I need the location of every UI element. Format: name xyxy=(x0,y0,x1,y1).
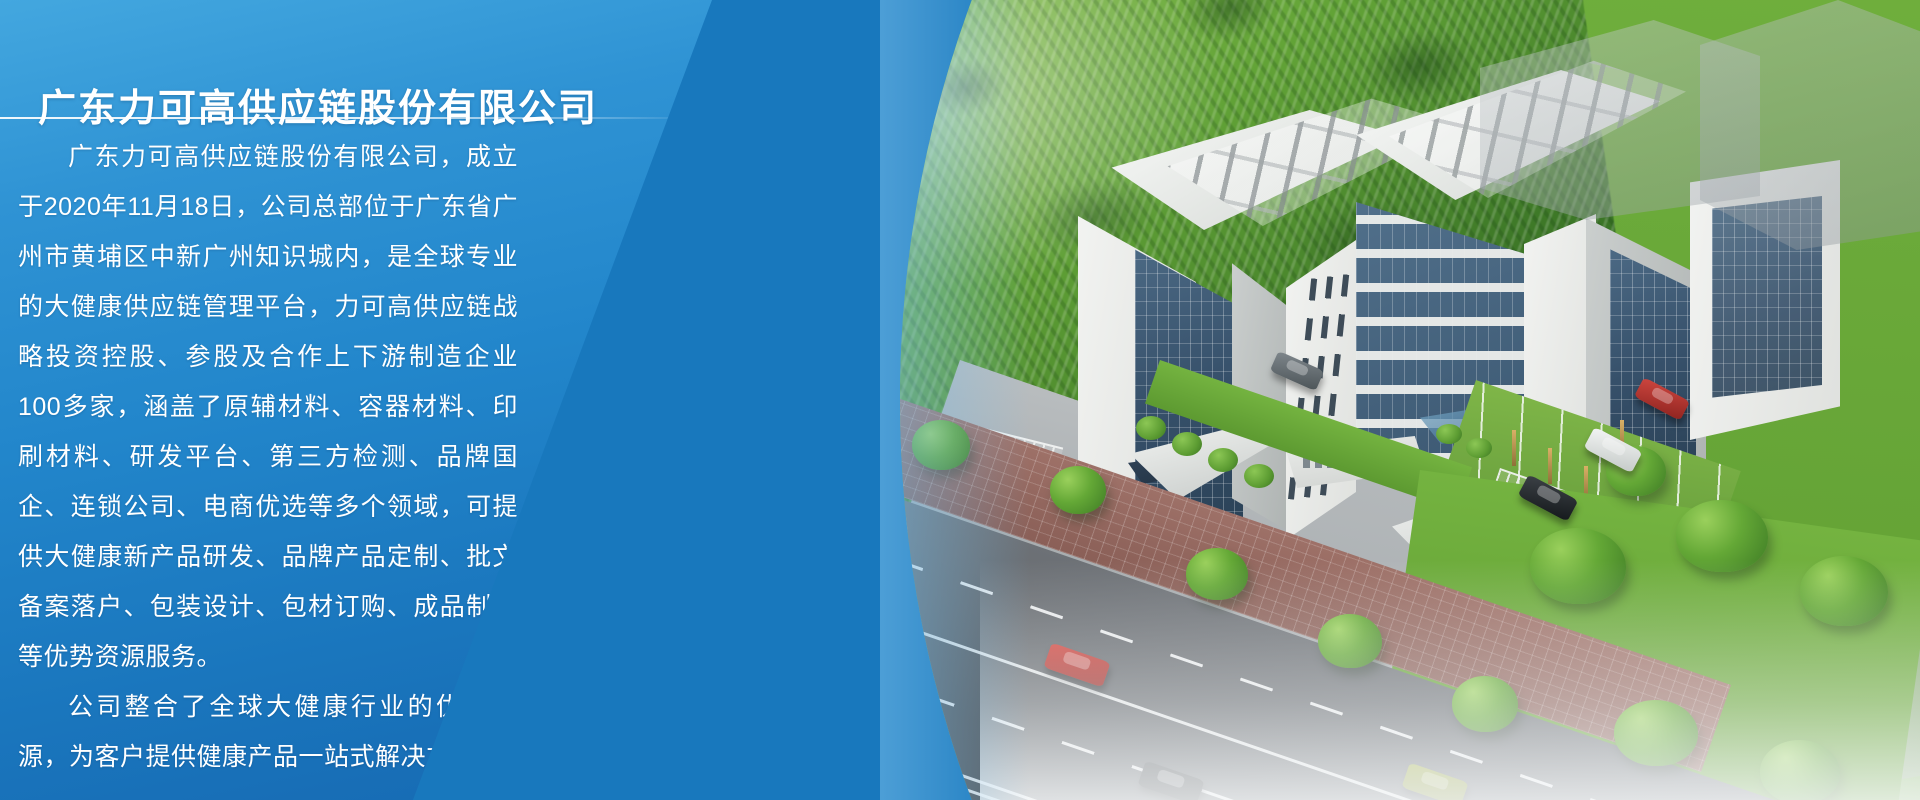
hedge-shrub-3 xyxy=(1208,448,1238,472)
street-tree-3 xyxy=(1186,548,1248,600)
street-tree-5 xyxy=(1452,676,1518,732)
hedge-shrub-4 xyxy=(1244,464,1274,488)
company-description-paragraph-1: 广东力可高供应链股份有限公司，成立于2020年11月18日，公司总部位于广东省广… xyxy=(18,132,518,682)
hedge-shrub-1 xyxy=(1136,416,1166,440)
lawn-tree-3 xyxy=(1800,556,1888,626)
street-tree-2 xyxy=(1050,466,1106,514)
lamp-post-1 xyxy=(1512,430,1516,466)
courtyard-shrub-2 xyxy=(1466,438,1492,458)
lamp-post-2 xyxy=(1548,448,1552,484)
lawn-tree-4 xyxy=(1614,700,1698,766)
ghost-building-b xyxy=(1700,0,1920,250)
hedge-shrub-2 xyxy=(1172,432,1202,456)
company-description: 广东力可高供应链股份有限公司，成立于2020年11月18日，公司总部位于广东省广… xyxy=(18,132,518,782)
street-tree-1 xyxy=(912,420,970,470)
street-tree-4 xyxy=(1318,614,1382,668)
lawn-tree-1 xyxy=(1530,528,1626,604)
page-title: 广东力可高供应链股份有限公司 xyxy=(38,77,598,132)
lawn-tree-2 xyxy=(1676,500,1768,572)
title-divider xyxy=(0,117,700,119)
company-profile-banner: 广东力可高供应链股份有限公司 广东力可高供应链股份有限公司，成立于2020年11… xyxy=(0,0,1920,800)
courtyard-shrub-1 xyxy=(1436,424,1462,444)
lawn-tree-5 xyxy=(1760,740,1840,800)
